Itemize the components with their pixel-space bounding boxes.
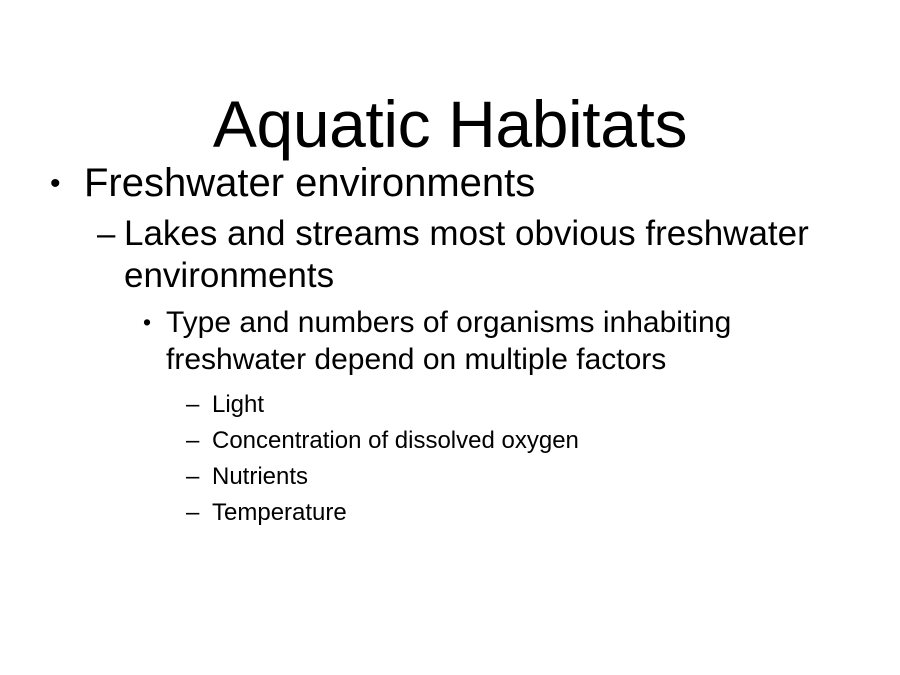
outline-item-label: Concentration of dissolved oxygen — [212, 423, 732, 459]
bullet-dash-icon: – — [97, 213, 124, 255]
slide-body-outline: • Freshwater environments – Lakes and st… — [0, 160, 900, 531]
bullet-dot-icon: • — [143, 304, 166, 341]
outline-item-label: Lakes and streams most obvious freshwate… — [124, 213, 814, 297]
outline-item-label: Temperature — [212, 495, 732, 531]
outline-item-label: Type and numbers of organisms inhabiting… — [166, 304, 746, 378]
outline-item-level1: • Freshwater environments — [0, 160, 900, 207]
outline-item-level4: – Concentration of dissolved oxygen — [0, 423, 900, 459]
outline-item-level2: – Lakes and streams most obvious freshwa… — [0, 213, 900, 297]
outline-item-level4: – Temperature — [0, 495, 900, 531]
slide-title: Aquatic Habitats — [0, 88, 900, 160]
bullet-dash-icon: – — [186, 495, 212, 531]
outline-item-level4: – Nutrients — [0, 459, 900, 495]
presentation-slide: Aquatic Habitats • Freshwater environmen… — [0, 0, 900, 675]
outline-level4-group: – Light – Concentration of dissolved oxy… — [0, 387, 900, 531]
outline-item-level3: • Type and numbers of organisms inhabiti… — [0, 304, 900, 378]
bullet-dash-icon: – — [186, 387, 212, 423]
outline-item-label: Nutrients — [212, 459, 732, 495]
outline-item-label: Freshwater environments — [84, 160, 874, 207]
bullet-dash-icon: – — [186, 459, 212, 495]
outline-item-label: Light — [212, 387, 732, 423]
outline-item-level4: – Light — [0, 387, 900, 423]
bullet-dot-icon: • — [50, 160, 84, 207]
bullet-dash-icon: – — [186, 423, 212, 459]
